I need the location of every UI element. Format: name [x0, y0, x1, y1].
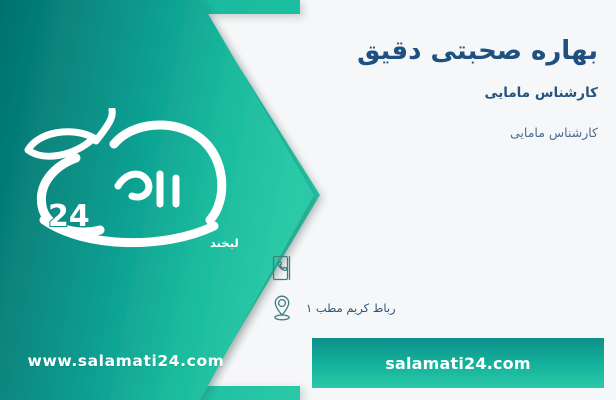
- phone-book-icon: [268, 253, 296, 283]
- footer-url-bar[interactable]: salamati24.com: [312, 338, 604, 388]
- svg-text:24: 24: [48, 199, 90, 234]
- logo-24-badge: 24: [48, 199, 90, 234]
- profile-card: 24 براحتی یک لبخند www.salamati24.com به…: [0, 0, 616, 400]
- contact-list: رباط کریم مطب ۱: [268, 248, 598, 328]
- specialty-primary: کارشناس مامایی: [268, 85, 598, 101]
- contact-row-address[interactable]: رباط کریم مطب ۱: [268, 288, 598, 328]
- profile-info: بهاره صحبتی دقیق کارشناس مامایی کارشناس …: [268, 34, 598, 140]
- apple-leaf-logo-icon: 24 براحتی یک لبخند: [14, 108, 238, 258]
- location-pin-icon: [268, 293, 296, 323]
- footer-website-url: salamati24.com: [385, 354, 531, 373]
- brand-logo: 24 براحتی یک لبخند www.salamati24.com: [14, 108, 238, 278]
- logo-tagline: براحتی یک لبخند: [210, 236, 238, 250]
- contact-row-phone[interactable]: [268, 248, 598, 288]
- specialty-secondary: کارشناس مامایی: [268, 125, 598, 140]
- doctor-name: بهاره صحبتی دقیق: [268, 34, 598, 69]
- logo-website-url: www.salamati24.com: [14, 352, 238, 370]
- contact-address-text: رباط کریم مطب ۱: [306, 301, 396, 315]
